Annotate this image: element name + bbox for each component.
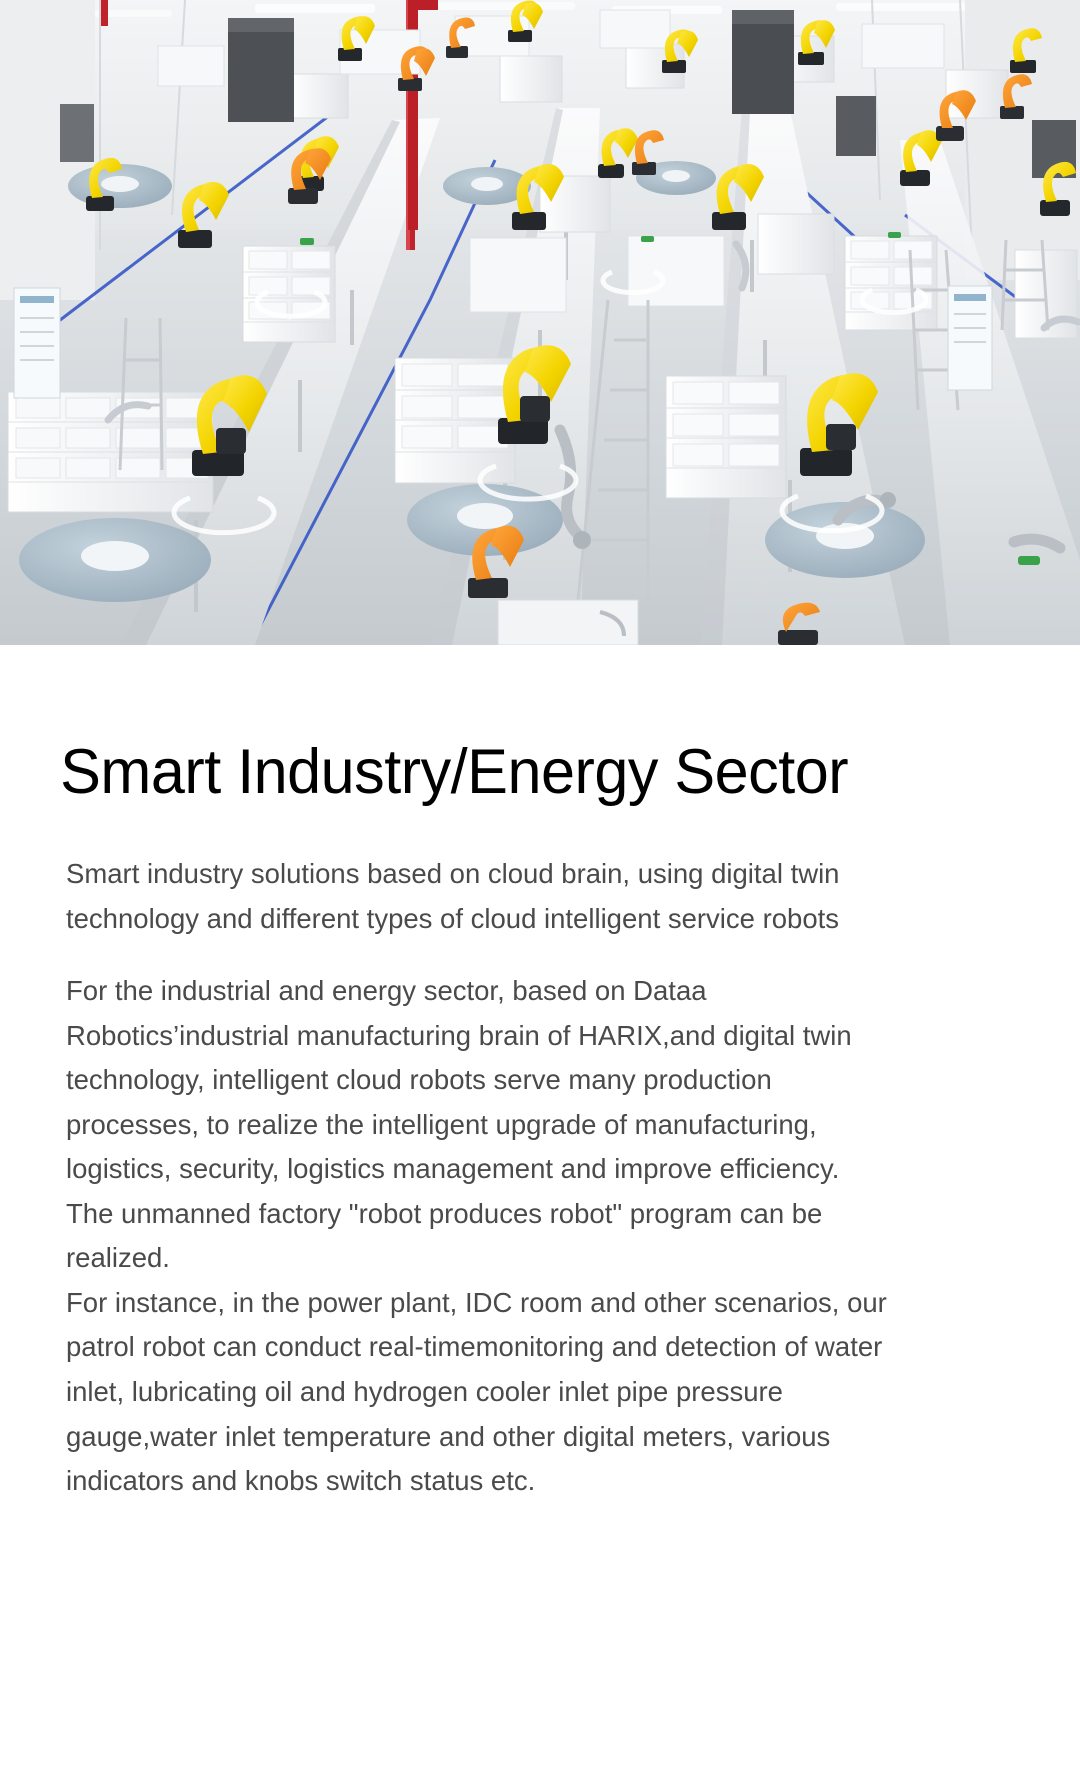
article-paragraph-2: The unmanned factory "robot produces rob…: [66, 1192, 896, 1281]
foreground-machine: [498, 600, 638, 645]
factory-scene-illustration: [0, 0, 1080, 645]
article-body: Smart industry solutions based on cloud …: [0, 852, 896, 1504]
page-title: Smart Industry/Energy Sector: [0, 645, 1048, 804]
article-content: Smart Industry/Energy Sector Smart indus…: [0, 645, 1080, 1504]
article-paragraph-3: For instance, in the power plant, IDC ro…: [66, 1281, 896, 1504]
article-lede: Smart industry solutions based on cloud …: [66, 852, 896, 941]
hero-image: [0, 0, 1080, 645]
article-paragraph-1: For the industrial and energy sector, ba…: [66, 969, 896, 1192]
